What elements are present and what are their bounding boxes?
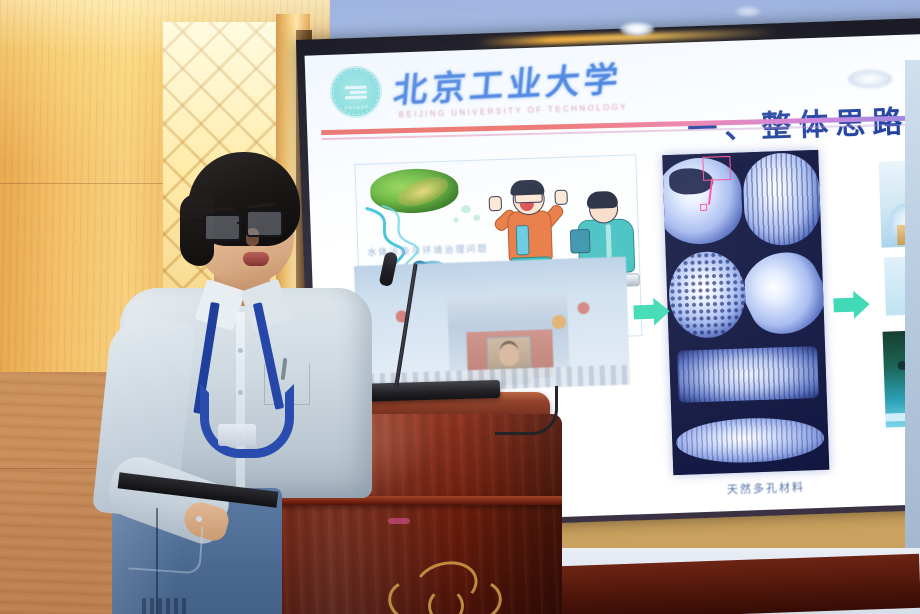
spot-light-3 bbox=[735, 6, 761, 17]
flow-arrow-1 bbox=[633, 297, 672, 326]
zoom-highlight-box bbox=[702, 156, 731, 181]
podium-gold-ornament bbox=[384, 558, 504, 614]
figure-hand-left bbox=[489, 196, 503, 211]
glasses-lens-left bbox=[204, 214, 241, 241]
badge-card bbox=[218, 424, 256, 446]
sem-cell-6 bbox=[671, 406, 829, 475]
diatom-oval-3 bbox=[744, 246, 825, 341]
figure-body bbox=[507, 210, 553, 262]
logo-micro-text: 北京工业大学 bbox=[330, 104, 382, 112]
podium-scuff bbox=[388, 518, 410, 524]
glasses-lens-right bbox=[246, 210, 283, 237]
sem-caption: 天然多孔材料 bbox=[686, 477, 846, 499]
zoom-target-box bbox=[700, 204, 707, 211]
lanyard-loop bbox=[200, 384, 294, 458]
diatom-pores bbox=[668, 251, 747, 340]
arrow-tip bbox=[653, 297, 670, 326]
arrow-tip bbox=[853, 290, 870, 319]
jeans-logo bbox=[142, 598, 190, 614]
glasses-bridge bbox=[237, 222, 246, 224]
right-wall-edge bbox=[905, 60, 920, 614]
sem-cell-5 bbox=[669, 338, 827, 411]
bjut-seal-logo: 北京工业大学 bbox=[329, 65, 383, 119]
flag-2 bbox=[577, 302, 589, 314]
diatom-elongate-ribs bbox=[676, 416, 825, 465]
diatom-ribs-2 bbox=[740, 150, 821, 249]
sem-cell-4 bbox=[744, 246, 825, 341]
sem-cell-2 bbox=[740, 150, 821, 249]
spot-light-1 bbox=[620, 22, 654, 36]
sem-cell-3 bbox=[666, 249, 747, 344]
diatom-band-ribs bbox=[677, 346, 819, 403]
conference-photo-scene: 北京工业大学 北京工业大学 BEIJING UNIVERSITY OF TECH… bbox=[0, 0, 920, 614]
diatom-sem-collage bbox=[662, 150, 829, 475]
shirt-button-1 bbox=[238, 348, 243, 353]
figure-hand-right bbox=[554, 190, 568, 205]
microphone-cable bbox=[495, 386, 558, 435]
figure-glasses-icon bbox=[514, 192, 542, 203]
jeans-pocket bbox=[128, 522, 203, 575]
spot-light-2 bbox=[848, 70, 892, 88]
flow-arrow-2 bbox=[833, 290, 872, 319]
presenter-mouth bbox=[243, 252, 269, 266]
jeans-rivet bbox=[196, 516, 202, 522]
figure-hair-teal bbox=[586, 191, 618, 209]
diatom-round bbox=[668, 251, 747, 340]
